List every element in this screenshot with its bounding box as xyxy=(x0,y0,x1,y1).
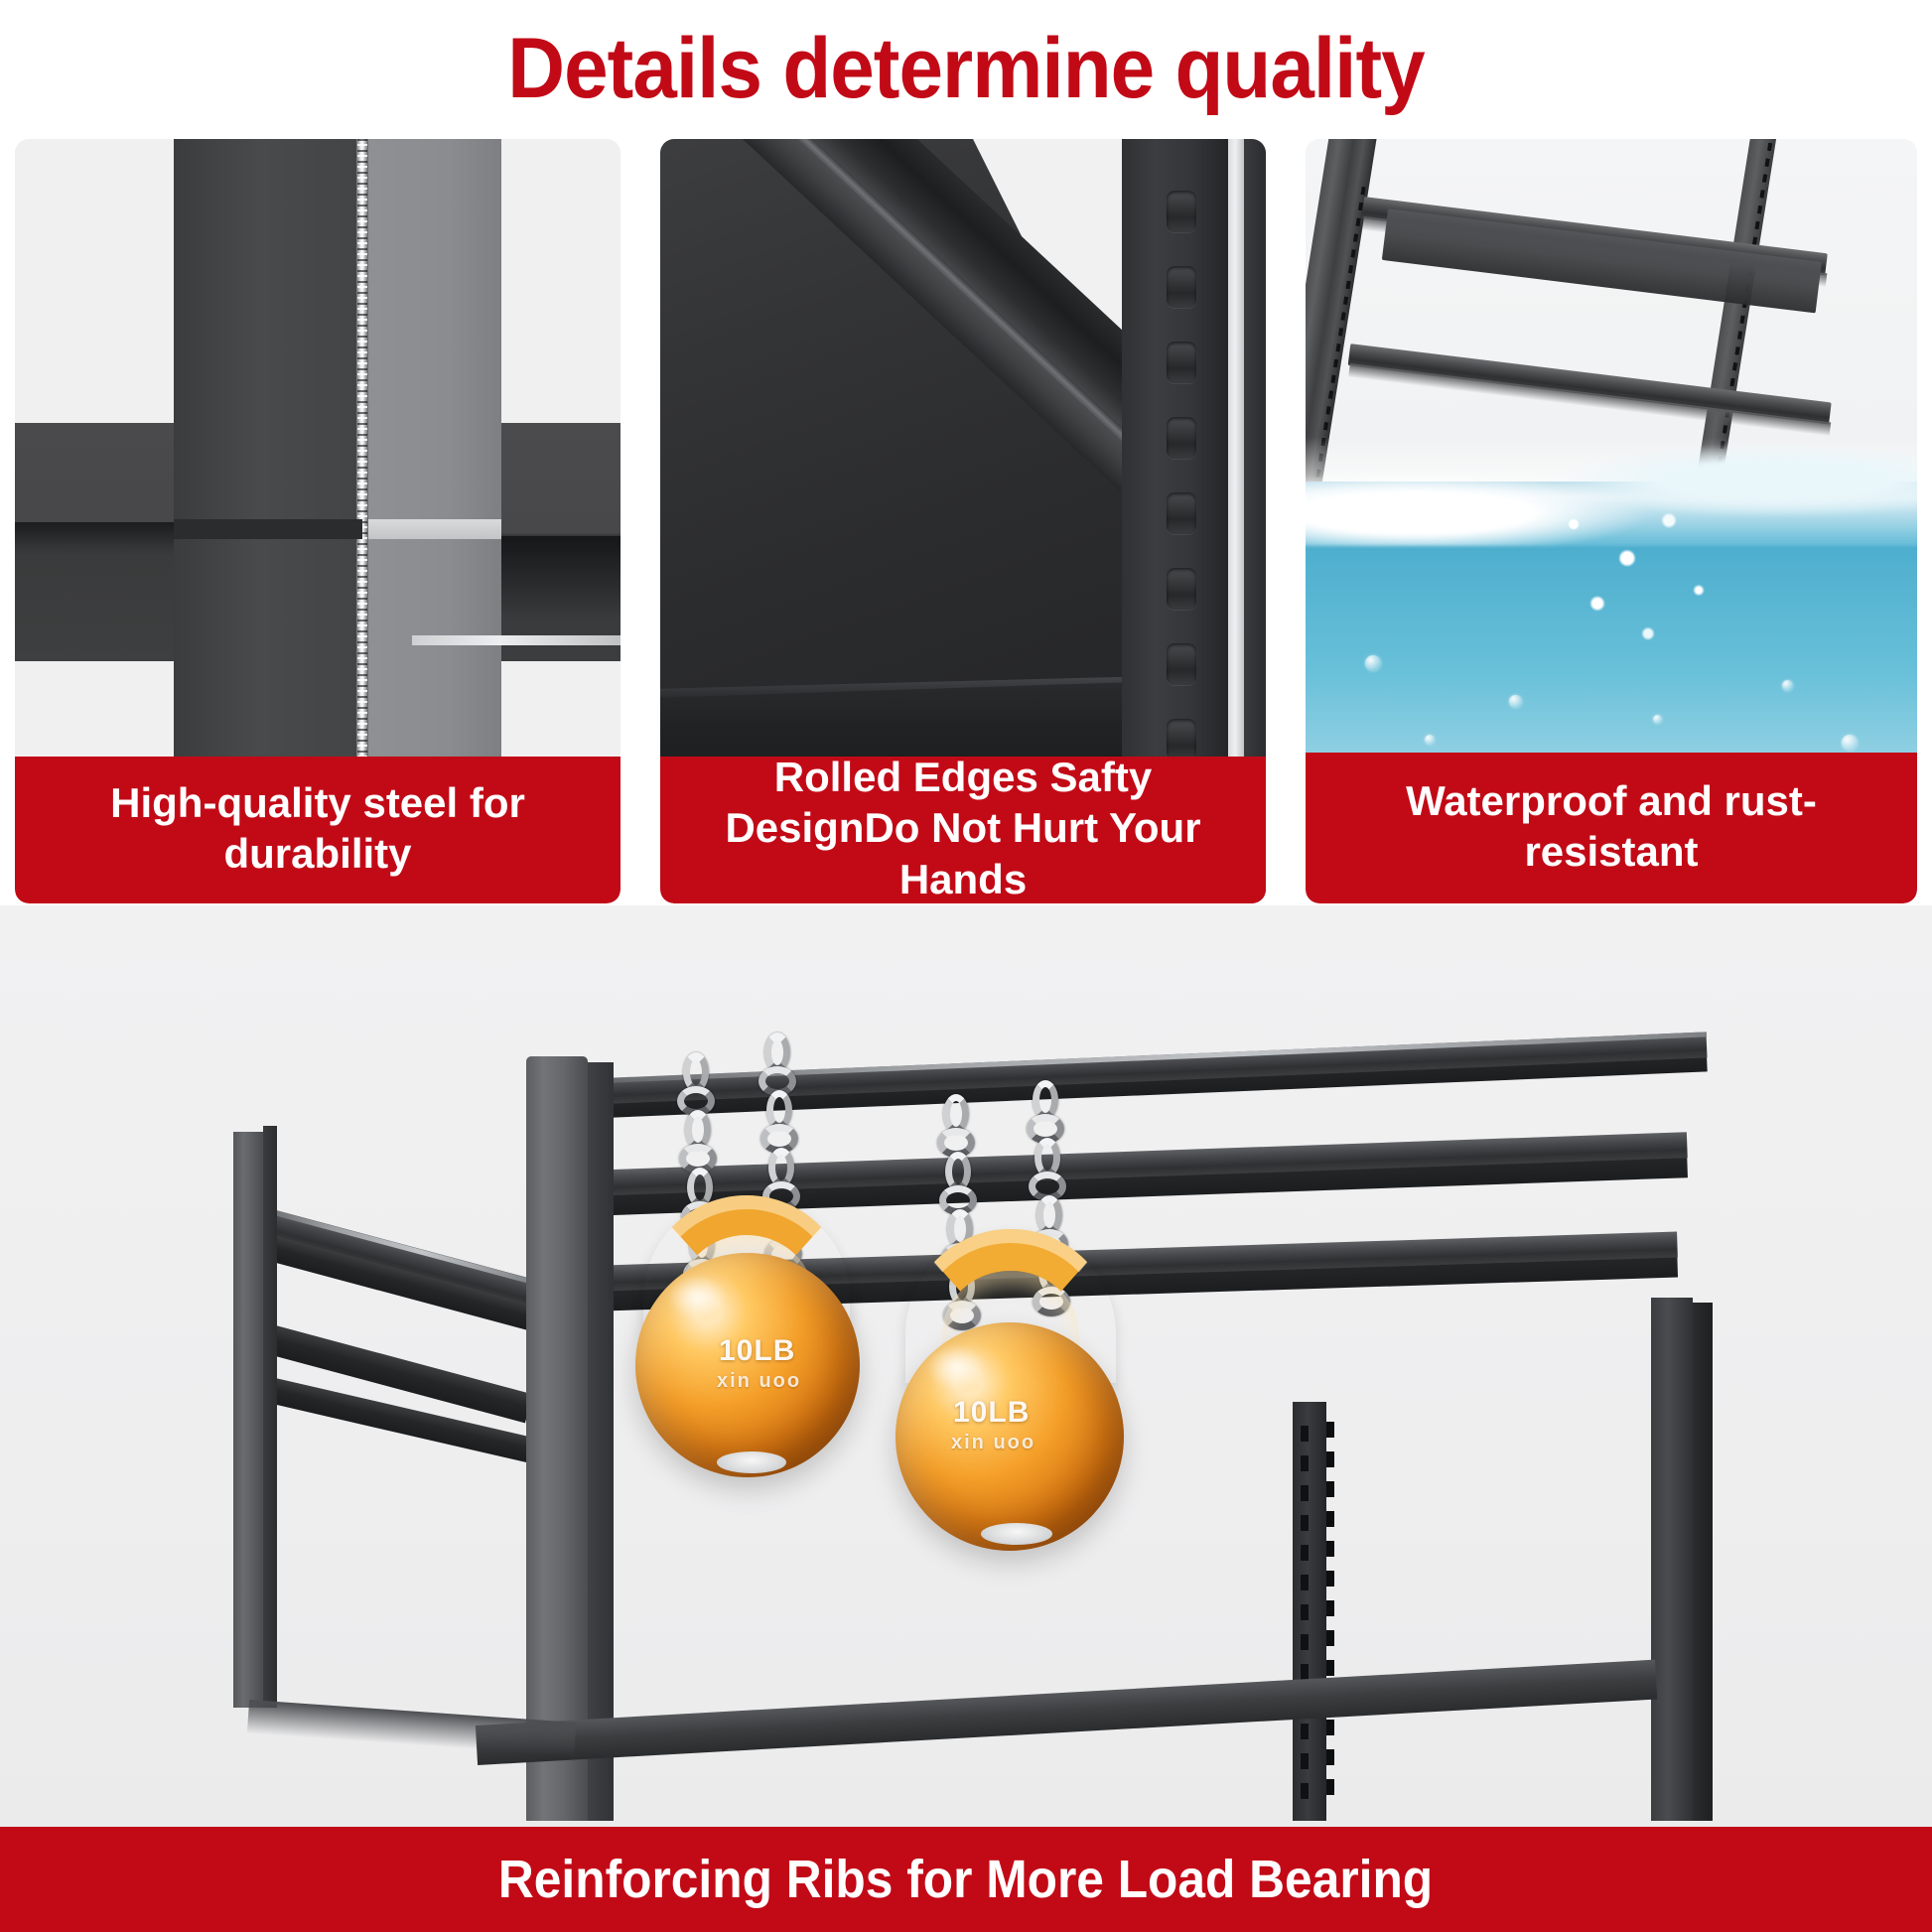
kettlebell-left-weight-label: 10LB xyxy=(719,1334,795,1367)
panel-3-image: Waterproof and rust-resistant xyxy=(1306,139,1917,903)
page-title: Details determine quality xyxy=(68,24,1864,113)
kettlebell-right-brand-label: xin uoo xyxy=(951,1432,1035,1454)
panel-2-caption: Rolled Edges Safty DesignDo Not Hurt You… xyxy=(660,757,1266,903)
feature-panel-rolled-edges[interactable]: Rolled Edges Safty DesignDo Not Hurt You… xyxy=(660,139,1266,903)
panel-2-caption-text: Rolled Edges Safty DesignDo Not Hurt You… xyxy=(680,752,1246,903)
feature-panel-waterproof[interactable]: Waterproof and rust-resistant xyxy=(1306,139,1917,903)
panel-1-caption: High-quality steel for durability xyxy=(15,757,621,903)
hero-image: 10LB xin uoo 10LB xin uoo xyxy=(0,905,1932,1827)
kettlebell-left-brand-label: xin uoo xyxy=(717,1370,801,1393)
feature-panel-high-quality-steel[interactable]: High-quality steel for durability xyxy=(15,139,621,903)
panel-3-caption: Waterproof and rust-resistant xyxy=(1306,753,1917,903)
panel-3-caption-text: Waterproof and rust-resistant xyxy=(1325,775,1897,877)
feature-panel-row: High-quality steel for durability Rolled… xyxy=(0,139,1932,903)
hero-caption-bar: Reinforcing Ribs for More Load Bearing xyxy=(0,1827,1932,1932)
panel-1-caption-text: High-quality steel for durability xyxy=(35,777,601,879)
kettlebell-right-weight-label: 10LB xyxy=(953,1396,1030,1429)
hero-caption-text: Reinforcing Ribs for More Load Bearing xyxy=(498,1849,1433,1910)
